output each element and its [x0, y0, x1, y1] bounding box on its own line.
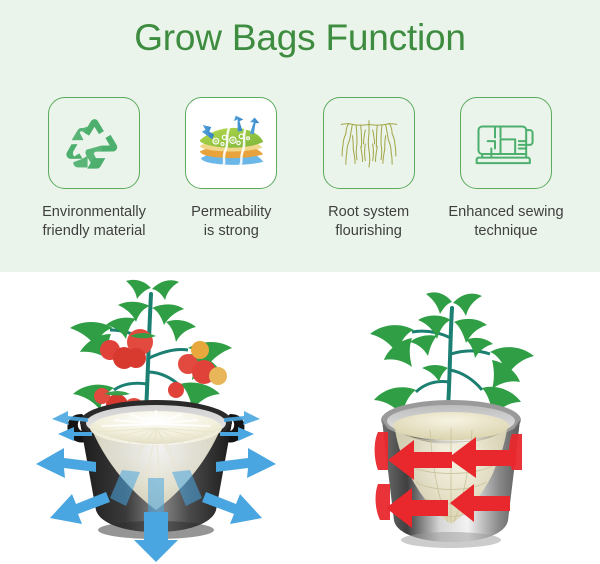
- tomato-plant-stunted: [370, 292, 534, 417]
- circling-arrow-edge: [376, 484, 390, 520]
- circling-arrow-edge: [375, 432, 388, 470]
- feature-label-3-line1: Root system: [328, 204, 409, 220]
- sewing-machine-icon: [473, 113, 539, 173]
- feature-item-environmentally-friendly: Environmentally friendly material: [32, 97, 156, 240]
- grow-bags-function-infographic: Grow Bags Function: [0, 0, 600, 564]
- fabric-grow-bag-illustration: [18, 272, 318, 564]
- feature-label-2-line2: is strong: [204, 223, 259, 239]
- feature-label-3-line2: flourishing: [335, 223, 402, 239]
- recycle-icon: [63, 112, 125, 174]
- airflow-arrow-inner: [148, 478, 164, 518]
- feature-card-4: [460, 97, 552, 189]
- illustration-area: [0, 272, 600, 564]
- plastic-pot: [381, 400, 521, 548]
- page-title: Grow Bags Function: [0, 17, 600, 59]
- feature-card-2: [185, 97, 277, 189]
- illustration-fabric-grow-bag: [18, 272, 318, 564]
- plastic-pot-illustration: [330, 284, 590, 564]
- feature-label-1-line1: Environmentally: [42, 204, 146, 220]
- feature-item-root-system: Root system flourishing: [307, 97, 431, 240]
- illustration-plastic-pot: [330, 284, 590, 564]
- feature-item-enhanced-sewing: Enhanced sewing technique: [444, 97, 568, 240]
- feature-list: Environmentally friendly material: [32, 97, 568, 240]
- feature-label-4-line1: Enhanced sewing: [448, 204, 563, 220]
- feature-label-2: Permeability is strong: [191, 203, 271, 240]
- tomato-plant-healthy: [70, 280, 232, 418]
- feature-label-1-line2: friendly material: [42, 223, 145, 239]
- feature-label-1: Environmentally friendly material: [42, 203, 146, 240]
- breathable-fabric-layers-icon: [193, 109, 269, 177]
- feature-label-3: Root system flourishing: [328, 203, 409, 240]
- header-band: Grow Bags Function: [0, 0, 600, 272]
- feature-card-1: [48, 97, 140, 189]
- feature-item-permeability: Permeability is strong: [169, 97, 293, 240]
- root-system-icon: [332, 113, 406, 173]
- feature-label-4: Enhanced sewing technique: [448, 203, 563, 240]
- feature-label-4-line2: technique: [474, 223, 537, 239]
- feature-label-2-line1: Permeability: [191, 204, 271, 220]
- feature-card-3: [323, 97, 415, 189]
